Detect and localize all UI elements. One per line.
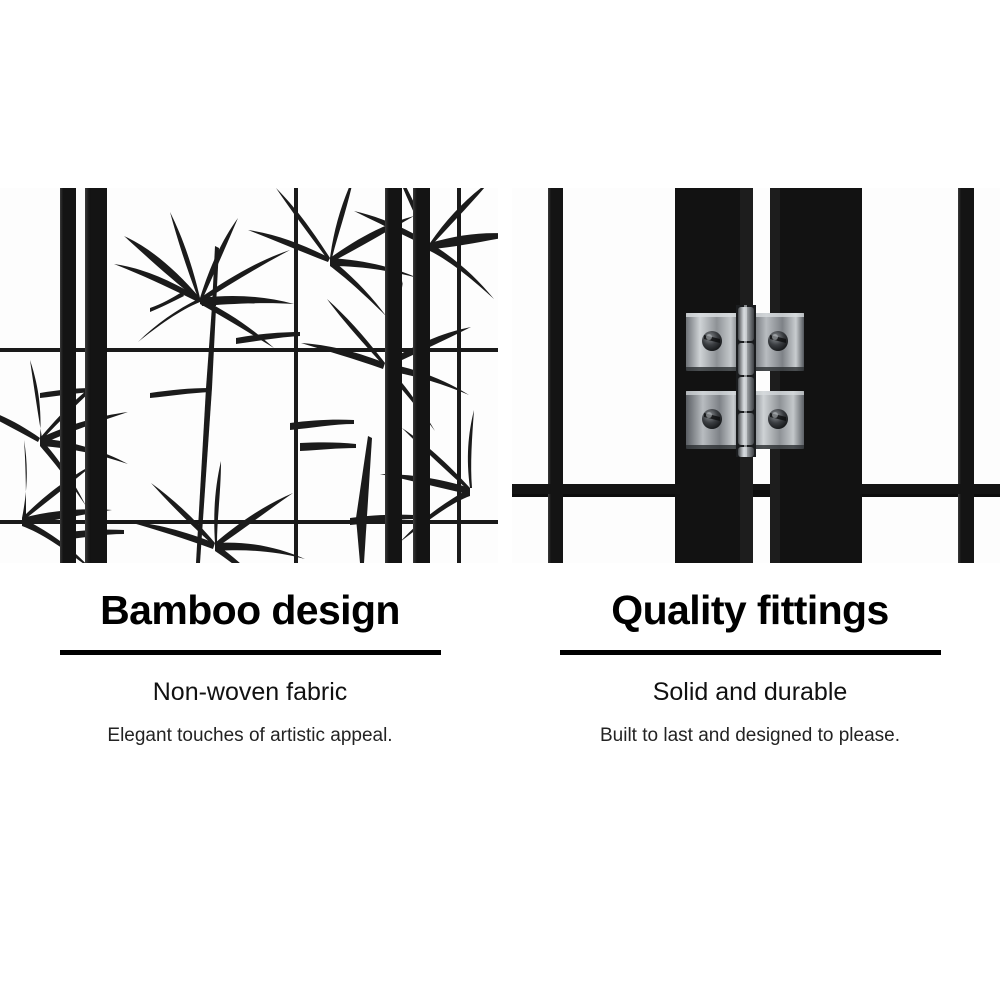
panel-title: Bamboo design xyxy=(0,585,500,635)
grid-bar-vertical xyxy=(457,188,461,563)
caption-quality-fittings: Quality fittings Solid and durable Built… xyxy=(500,585,1000,749)
title-divider-rule xyxy=(560,650,941,655)
photo-hinge-closeup xyxy=(512,188,1000,563)
caption-bamboo-design: Bamboo design Non-woven fabric Elegant t… xyxy=(0,585,500,749)
feature-panel-quality-fittings: Quality fittings Solid and durable Built… xyxy=(500,0,1000,790)
frame-post-vertical xyxy=(85,188,107,563)
frame-post-vertical xyxy=(385,188,402,563)
frame-post-vertical xyxy=(60,188,76,563)
panel-description: Elegant touches of artistic appeal. xyxy=(0,723,500,749)
frame-post-vertical xyxy=(958,188,974,563)
frame-post-vertical xyxy=(548,188,563,563)
grid-bar-vertical xyxy=(294,188,298,563)
frame-rail-horizontal-front xyxy=(512,484,680,494)
panel-subtitle: Non-woven fabric xyxy=(0,676,500,708)
screw xyxy=(702,409,722,429)
product-feature-page: Bamboo design Non-woven fabric Elegant t… xyxy=(0,0,1000,1000)
screw xyxy=(768,331,788,351)
photo-bamboo-panel xyxy=(0,188,498,563)
hinge-icon xyxy=(684,305,808,457)
photo-canvas-hinge xyxy=(512,188,1000,563)
frame-post-vertical xyxy=(413,188,430,563)
title-divider-rule xyxy=(60,650,441,655)
panel-description: Built to last and designed to please. xyxy=(500,723,1000,749)
panel-subtitle: Solid and durable xyxy=(500,676,1000,708)
panel-row: Bamboo design Non-woven fabric Elegant t… xyxy=(0,0,1000,790)
feature-panel-bamboo-design: Bamboo design Non-woven fabric Elegant t… xyxy=(0,0,500,790)
photo-canvas-bamboo xyxy=(0,188,498,563)
frame-rail-horizontal-front xyxy=(860,484,1000,494)
screw xyxy=(768,409,788,429)
screw xyxy=(702,331,722,351)
panel-title: Quality fittings xyxy=(500,585,1000,635)
